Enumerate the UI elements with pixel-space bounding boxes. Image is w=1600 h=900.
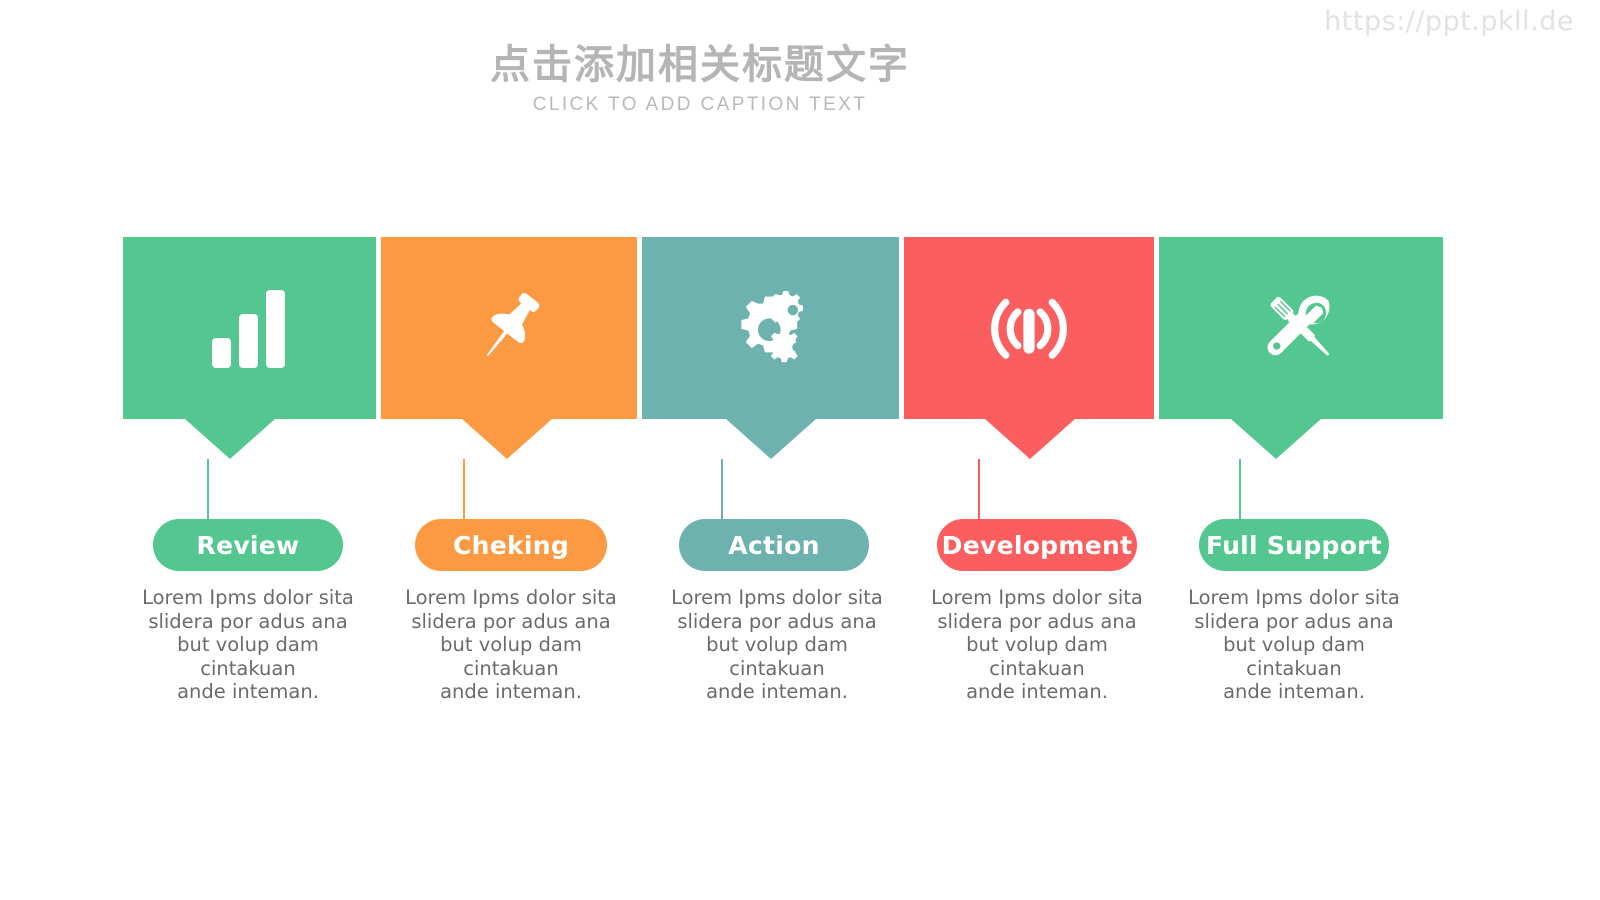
panel-notch [1231,419,1321,459]
connector-line [978,459,980,521]
step-pill-action[interactable]: Action [679,519,869,571]
step-pill-review[interactable]: Review [153,519,343,571]
panel-notch [185,419,275,459]
pushpin-icon [459,278,559,378]
bar-chart-icon [199,278,299,378]
page-heading: 点击添加相关标题文字 CLICK TO ADD CAPTION TEXT [0,42,1600,116]
connector-line [721,459,723,521]
panel-notch [726,419,816,459]
step-description-full-support: Lorem Ipms dolor sita slidera por adus a… [1174,586,1414,704]
step-description-development: Lorem Ipms dolor sita slidera por adus a… [917,586,1157,704]
panel-notch [985,419,1075,459]
step-pill-development[interactable]: Development [937,519,1137,571]
step-panel-cheking[interactable] [381,237,637,419]
step-panel-development[interactable] [904,237,1154,419]
step-description-review: Lorem Ipms dolor sita slidera por adus a… [128,586,368,704]
step-panel-action[interactable] [642,237,900,419]
panel-notch [462,419,552,459]
step-pill-label: Action [728,531,819,560]
step-pill-cheking[interactable]: Cheking [415,519,607,571]
step-panel-full-support[interactable] [1159,237,1443,419]
step-pill-label: Development [942,531,1133,560]
broadcast-signal-icon [979,278,1079,378]
watermark-url: https://ppt.pkll.de [1324,6,1574,37]
step-pill-label: Cheking [453,531,569,560]
connector-line [463,459,465,521]
step-pill-full-support[interactable]: Full Support [1199,519,1389,571]
gears-icon [721,278,821,378]
step-pill-label: Review [197,531,300,560]
wrench-screwdriver-icon [1251,278,1351,378]
page-subtitle: CLICK TO ADD CAPTION TEXT [0,94,1600,116]
step-panel-review[interactable] [123,237,376,419]
step-description-cheking: Lorem Ipms dolor sita slidera por adus a… [391,586,631,704]
connector-line [1239,459,1241,521]
step-pill-label: Full Support [1206,531,1382,560]
connector-line [207,459,209,521]
step-panels-row [123,237,1443,419]
step-description-action: Lorem Ipms dolor sita slidera por adus a… [657,586,897,704]
page-title: 点击添加相关标题文字 [0,42,1600,88]
